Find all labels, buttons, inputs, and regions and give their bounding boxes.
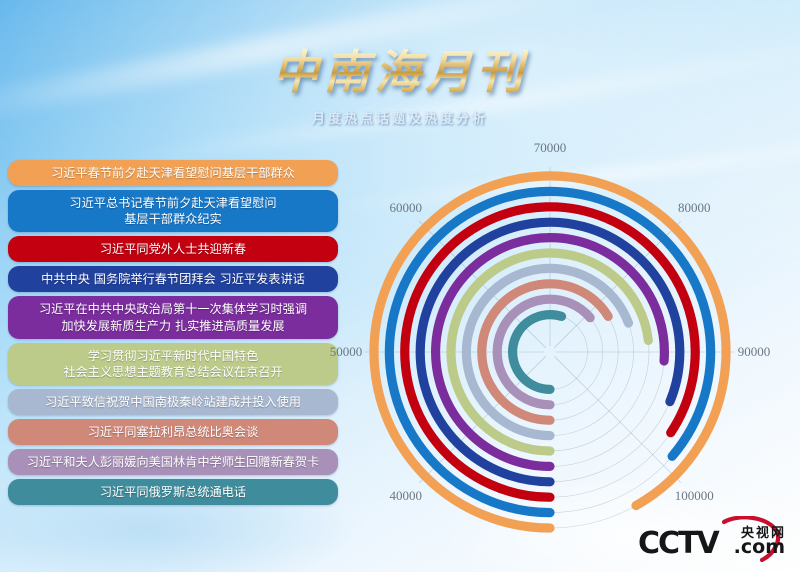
page-title: 中南海月刊 [273,48,528,98]
legend-item[interactable]: 习近平同塞拉利昂总统比奥会谈 [8,419,338,445]
cctv-logo-com-text: .com [734,536,785,558]
legend-item[interactable]: 习近平同俄罗斯总统通电话 [8,479,338,505]
axis-tick-label: 70000 [534,140,567,155]
radial-bar-chart-svg: 400005000060000700008000090000100000 [300,140,800,560]
page-header: 中南海月刊 月度热点话题及热度分析 [0,48,800,127]
axis-tick-label: 60000 [390,200,423,215]
axis-tick-label: 40000 [390,488,423,503]
legend-list: 习近平春节前夕赴天津看望慰问基层干部群众习近平总书记春节前夕赴天津看望慰问 基层… [8,160,338,509]
axis-tick-label: 100000 [675,488,714,503]
legend-item[interactable]: 习近平致信祝贺中国南极秦岭站建成并投入使用 [8,389,338,415]
legend-item[interactable]: 学习贯彻习近平新时代中国特色 社会主义思想主题教育总结会议在京召开 [8,343,338,385]
radial-bar-chart: 400005000060000700008000090000100000 [300,140,800,560]
legend-item[interactable]: 中共中央 国务院举行春节团拜会 习近平发表讲话 [8,266,338,292]
axis-tick-label: 50000 [330,344,363,359]
legend-item[interactable]: 习近平和夫人彭丽媛向美国林肯中学师生回赠新春贺卡 [8,449,338,475]
legend-item[interactable]: 习近平总书记春节前夕赴天津看望慰问 基层干部群众纪实 [8,190,338,232]
legend-item[interactable]: 习近平春节前夕赴天津看望慰问基层干部群众 [8,160,338,186]
axis-tick-label: 90000 [738,344,771,359]
page-subtitle: 月度热点话题及热度分析 [0,108,800,127]
axis-tick-label: 80000 [678,200,711,215]
legend-item[interactable]: 习近平在中共中央政治局第十一次集体学习时强调 加快发展新质生产力 扎实推进高质量… [8,296,338,338]
legend-item[interactable]: 习近平同党外人士共迎新春 [8,236,338,262]
cctv-logo: CCTV 央视网 .com [638,512,786,564]
cctv-logo-text: CCTV [638,526,718,561]
